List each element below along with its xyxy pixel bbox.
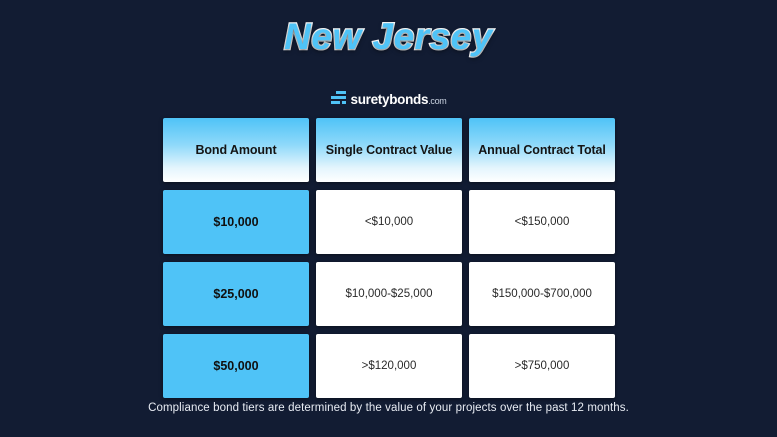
footer-note: Compliance bond tiers are determined by …: [0, 402, 777, 414]
column-header-bond-amount: Bond Amount: [163, 118, 309, 182]
cell-bond-amount: $50,000: [163, 334, 309, 398]
state-title: New Jersey: [0, 18, 777, 55]
logo-tld: .com: [428, 96, 446, 106]
cell-single-contract-value: >$120,000: [316, 334, 462, 398]
column-header-annual-contract-total: Annual Contract Total: [469, 118, 615, 182]
table-row: $25,000 $10,000-$25,000 $150,000-$700,00…: [163, 262, 615, 326]
cell-single-contract-value: $10,000-$25,000: [316, 262, 462, 326]
cell-bond-amount: $25,000: [163, 262, 309, 326]
bond-requirements-table: Bond Amount Single Contract Value Annual…: [163, 118, 615, 398]
logo-name: suretybonds: [350, 92, 428, 107]
cell-single-contract-value: <$10,000: [316, 190, 462, 254]
table-row: $10,000 <$10,000 <$150,000: [163, 190, 615, 254]
table-header-row: Bond Amount Single Contract Value Annual…: [163, 118, 615, 182]
cell-bond-amount: $10,000: [163, 190, 309, 254]
cell-annual-contract-total: >$750,000: [469, 334, 615, 398]
table-row: $50,000 >$120,000 >$750,000: [163, 334, 615, 398]
cell-annual-contract-total: $150,000-$700,000: [469, 262, 615, 326]
suretybonds-logo[interactable]: suretybonds.com: [330, 91, 446, 107]
infographic-canvas: New Jersey Home Improvement Contractor B…: [0, 0, 777, 437]
suretybonds-logo-mark-icon: [330, 91, 345, 107]
logo-wordmark: suretybonds.com: [350, 92, 446, 107]
column-header-single-contract-value: Single Contract Value: [316, 118, 462, 182]
cell-annual-contract-total: <$150,000: [469, 190, 615, 254]
